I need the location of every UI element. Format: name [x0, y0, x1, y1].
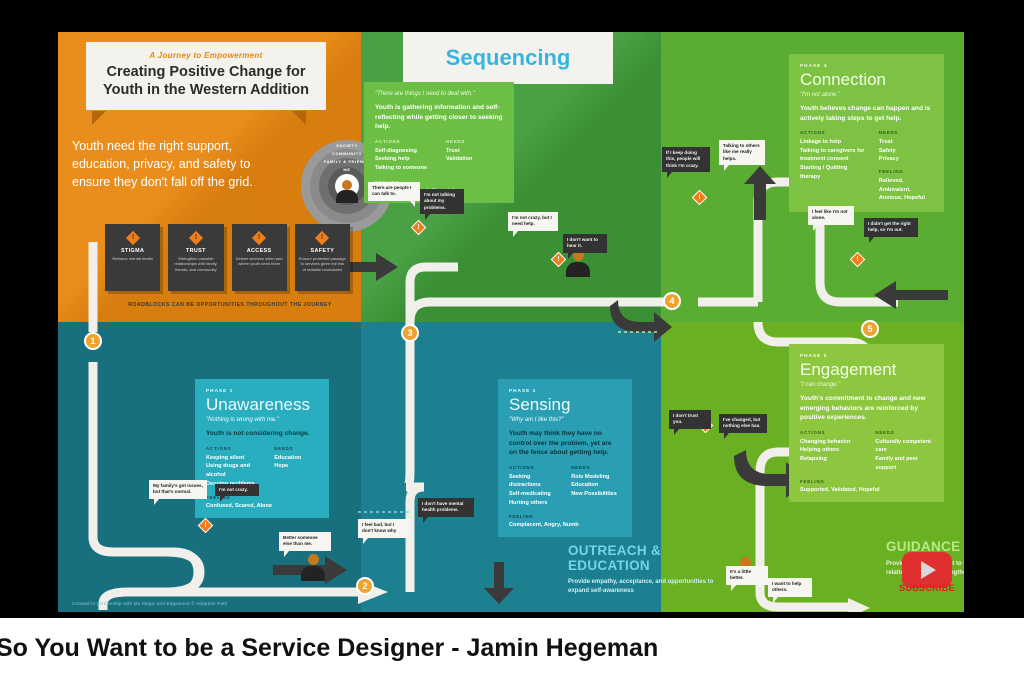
- step-marker-2: 2: [356, 577, 374, 595]
- action-item: Talking to someone: [375, 164, 432, 173]
- speech-bubble: It's a little better.: [726, 566, 768, 585]
- phase-panel-unawareness: PHASE 1 Unawareness "Nothing is wrong wi…: [195, 379, 329, 518]
- phase-label: PHASE 5: [800, 353, 933, 358]
- speech-bubble: I want to help others.: [768, 578, 812, 597]
- need-item: Role Modeling: [571, 473, 621, 482]
- roadblock-desc: Ensure protected passage to services giv…: [299, 256, 346, 272]
- actions-header: ACTIONS: [800, 130, 865, 135]
- speech-bubble: Better someone else than me.: [279, 532, 331, 551]
- action-item: Changing behavior: [800, 438, 861, 447]
- speech-bubble: I feel bad, but I don't know why: [358, 519, 410, 538]
- phase-desc: Youth's commitment to change and new eme…: [800, 394, 933, 423]
- subscribe-label[interactable]: SUBSCRIBE: [898, 583, 956, 593]
- phase-title: Engagement: [800, 361, 933, 378]
- need-item: Trust: [879, 138, 933, 147]
- needs-header: NEEDS: [879, 130, 933, 135]
- phase-title: Sensing: [509, 396, 621, 413]
- action-item: Talking to caregivers for treatment cons…: [800, 147, 865, 164]
- phase-quote: "I can change.": [800, 382, 933, 388]
- slide-video-area[interactable]: A Journey to Empowerment Creating Positi…: [0, 32, 1024, 618]
- roadblock-card: ACCESS Deliver services when and where y…: [232, 224, 287, 291]
- speech-bubble: I'm not crazy, but I need help.: [508, 212, 558, 231]
- actions-header: ACTIONS: [206, 446, 260, 451]
- warning-diamond-icon: [315, 231, 329, 245]
- feeling-value: Complacent, Angry, Numb: [509, 522, 621, 528]
- header-tab-left-icon: [92, 111, 106, 125]
- poster-title-line2: Youth in the Western Addition: [103, 82, 309, 98]
- phase-desc: Youth may think they have no control ove…: [509, 429, 621, 458]
- phase-quote: "Nothing is wrong with me.": [206, 417, 318, 423]
- speech-bubble: I don't want to hear it.: [563, 234, 607, 253]
- phase-panel-sensing: PHASE 2 Sensing "Why am I like this?" Yo…: [498, 379, 632, 537]
- phase-quote: "Why am I like this?": [509, 417, 621, 423]
- roadblock-title: SAFETY: [299, 248, 346, 254]
- phase-quote: "I'm not alone.": [800, 92, 933, 98]
- action-item: Linkage to help: [800, 138, 865, 147]
- phase-desc: Youth believes change can happen and is …: [800, 104, 933, 123]
- speech-bubble: My family's got issues, but that's norma…: [149, 480, 207, 499]
- youth-figure-icon: [301, 554, 325, 581]
- speech-bubble: I'm not talking about my problems.: [420, 189, 464, 214]
- youtube-subscribe-watermark[interactable]: SUBSCRIBE: [898, 550, 956, 608]
- needs-header: NEEDS: [571, 465, 621, 470]
- feeling-header: FEELING: [879, 169, 933, 174]
- poster-kicker: A Journey to Empowerment: [96, 51, 316, 60]
- actions-header: ACTIONS: [509, 465, 557, 470]
- need-item: Safety: [879, 147, 933, 156]
- speech-bubble: There are people I can talk to.: [368, 182, 420, 201]
- roadblock-title: ACCESS: [236, 248, 283, 254]
- roadblock-card: TRUST Strengthen valuable relationships …: [168, 224, 223, 291]
- phase-label: PHASE 2: [509, 388, 621, 393]
- action-item: Seeking distractions: [509, 473, 557, 490]
- roadblock-card: STIGMA Reframe mental health: [105, 224, 160, 291]
- video-title: So You Want to be a Service Designer - J…: [0, 634, 658, 663]
- roadblocks-note: ROADBLOCKS CAN BE OPPORTUNITIES THROUGHO…: [105, 302, 355, 308]
- speech-bubble: I feel like I'm not alone.: [808, 206, 854, 225]
- roadblock-title: TRUST: [172, 248, 219, 254]
- header-tab-right-icon: [292, 111, 306, 125]
- action-item: Seeking help: [375, 155, 432, 164]
- warning-diamond-icon: [252, 231, 266, 245]
- need-item: Validation: [446, 155, 503, 164]
- roadblock-desc: Deliver services when and where youth ne…: [236, 256, 283, 267]
- need-item: Family and peer support: [875, 455, 933, 472]
- phase-label: PHASE 4: [800, 63, 933, 68]
- speech-bubble: If I keep doing this, people will think …: [662, 147, 710, 172]
- warning-diamond-icon: [126, 231, 140, 245]
- needs-header: NEEDS: [274, 446, 318, 451]
- feeling-header: FEELING: [800, 479, 933, 484]
- action-item: Using drugs and alcohol: [206, 462, 260, 479]
- phase-desc: Youth is not considering change.: [206, 429, 318, 439]
- speech-bubble: I don't have mental health problems.: [418, 498, 474, 517]
- actions-header: ACTIONS: [375, 139, 432, 144]
- phase-desc: Youth is gathering information and self-…: [375, 103, 503, 132]
- poster-credit: Created in partnership with Mo Magic and…: [72, 601, 227, 606]
- feeling-value: Supported, Validated, Hopeful: [800, 487, 933, 493]
- speech-bubble: I didn't get the right help, so I'm out.: [864, 218, 918, 237]
- speech-bubble: I'm not crazy.: [215, 484, 259, 496]
- phase-panel-connection: PHASE 4 Connection "I'm not alone." Yout…: [789, 54, 944, 212]
- avatar-head-icon: [342, 180, 352, 190]
- phase-title: Unawareness: [206, 396, 318, 413]
- infographic-poster: A Journey to Empowerment Creating Positi…: [58, 32, 964, 612]
- video-player-stage: A Journey to Empowerment Creating Positi…: [0, 0, 1024, 679]
- speech-bubble: Talking to others like me really helps.: [719, 140, 765, 165]
- phase-quote: "There are things I need to deal with.": [375, 91, 503, 97]
- poster-intro-text: Youth need the right support, education,…: [72, 137, 262, 191]
- phase-label: PHASE 1: [206, 388, 318, 393]
- step-marker-4: 4: [663, 292, 681, 310]
- need-item: Education: [274, 454, 318, 463]
- action-item: Starting / Quitting therapy: [800, 164, 865, 181]
- need-item: Culturally competent care: [875, 438, 933, 455]
- warning-diamond-icon: [189, 231, 203, 245]
- need-item: Privacy: [879, 155, 933, 164]
- step-marker-1: 1: [84, 332, 102, 350]
- step-marker-5: 5: [861, 320, 879, 338]
- speech-bubble: I don't trust you.: [669, 410, 711, 429]
- roadblock-title: STIGMA: [109, 248, 156, 254]
- feeling-value: Confused, Scared, Alone: [206, 503, 318, 509]
- need-item: Education: [571, 481, 621, 490]
- action-item: Hurting others: [509, 499, 557, 508]
- action-item: Self-medicating: [509, 490, 557, 499]
- action-item: Helping others: [800, 446, 861, 455]
- speech-bubble: I've changed, but nothing else has.: [719, 414, 767, 433]
- roadblock-desc: Strengthen valuable relationships with f…: [172, 256, 219, 272]
- step-marker-3: 3: [401, 324, 419, 342]
- video-title-bar: So You Want to be a Service Designer - J…: [0, 618, 1024, 679]
- poster-header-card: A Journey to Empowerment Creating Positi…: [86, 42, 326, 110]
- feeling-header: FEELING: [509, 514, 621, 519]
- needs-header: NEEDS: [446, 139, 503, 144]
- roadblock-card-list: STIGMA Reframe mental health TRUST Stren…: [105, 224, 350, 291]
- actions-header: ACTIONS: [800, 430, 861, 435]
- action-item: Self-diagnosing: [375, 147, 432, 156]
- need-item: Trust: [446, 147, 503, 156]
- needs-header: NEEDS: [875, 430, 933, 435]
- need-item: Hope: [274, 462, 318, 471]
- action-item: Relapsing: [800, 455, 861, 464]
- feeling-value: Relieved, Ambivalent, Anxious, Hopeful: [879, 177, 933, 203]
- avatar-body-icon: [336, 190, 358, 203]
- action-item: Keeping silent: [206, 454, 260, 463]
- poster-title-line1: Creating Positive Change for: [106, 64, 305, 80]
- roadblock-desc: Reframe mental health: [109, 256, 156, 261]
- phase-panel-engagement: PHASE 5 Engagement "I can change." Youth…: [789, 344, 944, 502]
- need-item: New Possibilities: [571, 490, 621, 499]
- roadblock-card: SAFETY Ensure protected passage to servi…: [295, 224, 350, 291]
- phase-title: Connection: [800, 71, 933, 88]
